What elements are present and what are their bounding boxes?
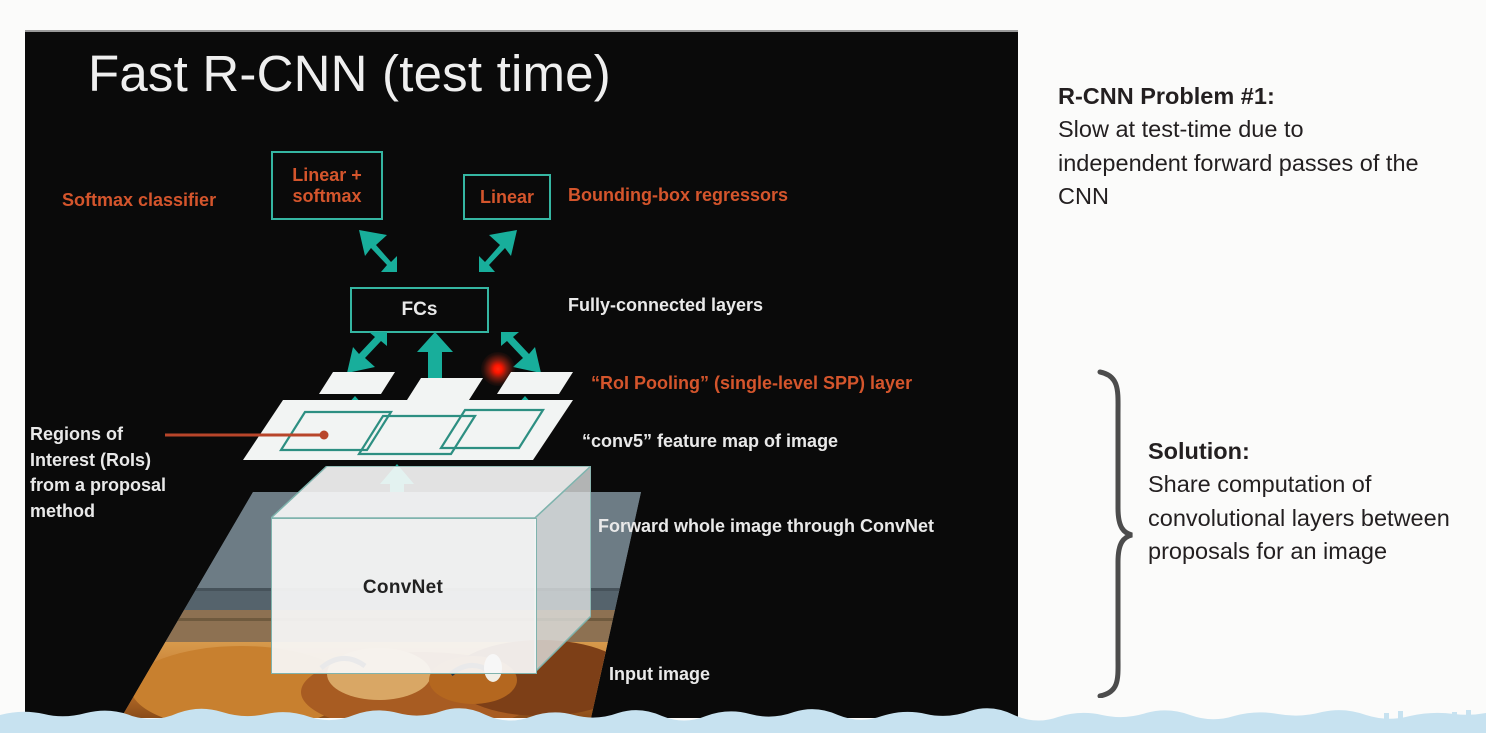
presentation-slide: Fast R-CNN (test time) Softmax classifie… xyxy=(25,30,1018,718)
solution-title: Solution: xyxy=(1148,438,1250,464)
curly-brace-icon xyxy=(1048,368,1138,698)
bounding-box-regressors-label: Bounding-box regressors xyxy=(568,185,788,206)
roi-pooled-plane-left xyxy=(319,372,395,394)
arrow-fcs-to-softmax xyxy=(347,218,407,274)
forward-whole-image-label: Forward whole image through ConvNet xyxy=(598,516,934,537)
input-image-label: Input image xyxy=(609,664,710,685)
arrow-roi-mid-to-fcs xyxy=(417,332,453,384)
roi-pooled-plane-right xyxy=(497,372,573,394)
slide-title: Fast R-CNN (test time) xyxy=(88,44,611,103)
softmax-classifier-label: Softmax classifier xyxy=(62,190,216,211)
rcnn-problem-body: Slow at test-time due to independent for… xyxy=(1058,116,1419,209)
arrow-fcs-to-linear xyxy=(469,218,529,274)
linear-box[interactable]: Linear xyxy=(463,174,551,220)
rcnn-problem-title: R-CNN Problem #1: xyxy=(1058,83,1275,109)
video-waveform-bar[interactable] xyxy=(0,699,1486,733)
fully-connected-layers-label: Fully-connected layers xyxy=(568,295,763,316)
rcnn-problem-text: R-CNN Problem #1: Slow at test-time due … xyxy=(1058,80,1438,213)
linear-softmax-box[interactable]: Linear + softmax xyxy=(271,151,383,220)
roi-pooled-plane-mid xyxy=(407,378,483,400)
fcs-box[interactable]: FCs xyxy=(350,287,489,333)
convnet-label: ConvNet xyxy=(271,577,535,599)
roi-pooling-label: “RoI Pooling” (single-level SPP) layer xyxy=(591,373,912,394)
right-annotation-panel: R-CNN Problem #1: Slow at test-time due … xyxy=(1040,0,1486,733)
conv5-feature-map-label: “conv5” feature map of image xyxy=(582,431,838,452)
solution-text: Solution: Share computation of convoluti… xyxy=(1148,435,1478,568)
roi-pointer-line xyxy=(165,427,330,443)
solution-body: Share computation of convolutional layer… xyxy=(1148,471,1450,564)
